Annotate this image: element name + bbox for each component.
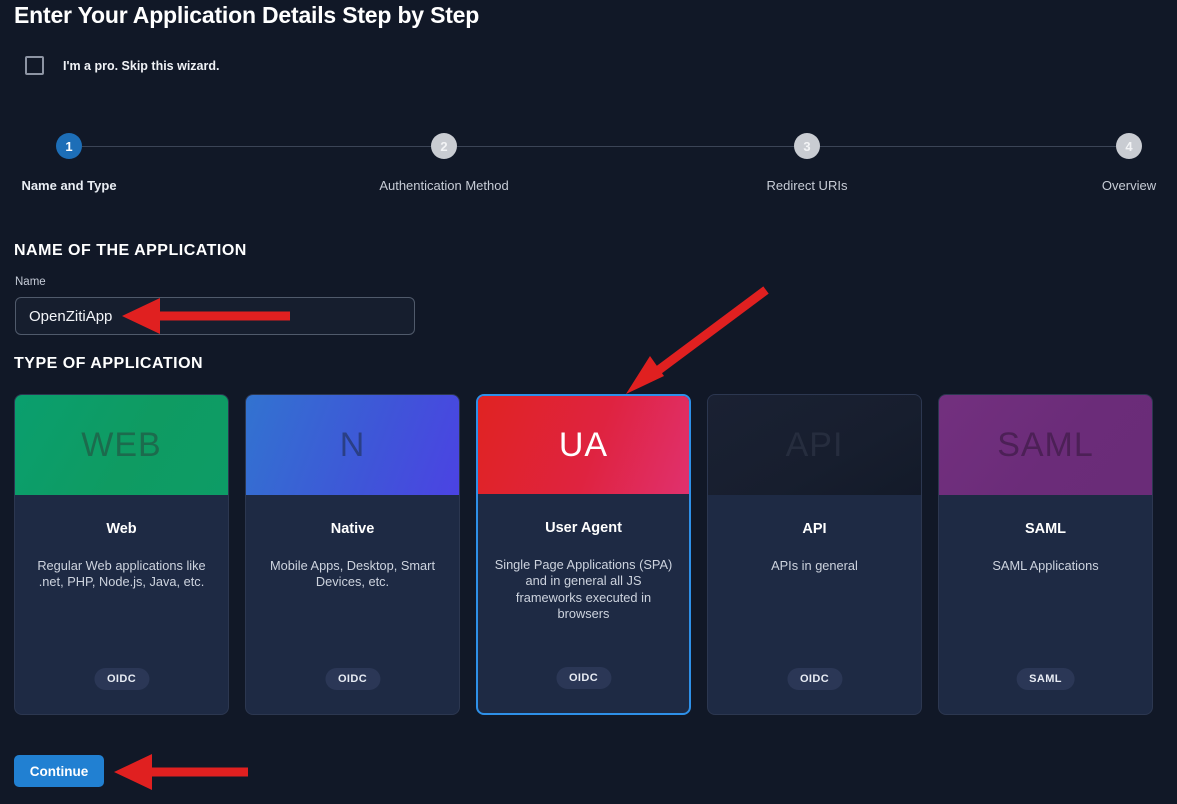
app-type-card-native-header: N [246,395,459,495]
stepper-step-2-number: 2 [431,133,457,159]
annotation-arrow-continue-button [114,754,248,790]
stepper-step-4-label: Overview [1049,178,1177,193]
name-field-label: Name [15,276,46,288]
skip-wizard-label: I'm a pro. Skip this wizard. [63,59,219,73]
app-type-card-web[interactable]: WEB Web Regular Web applications like .n… [14,394,229,715]
stepper-step-2-label: Authentication Method [364,178,524,193]
stepper-connector-2-3 [457,146,794,147]
app-type-card-web-abbr: WEB [81,426,161,465]
stepper-connector-1-2 [82,146,431,147]
app-type-card-saml-title: SAML [1025,521,1066,537]
app-type-card-web-badge: OIDC [94,668,149,690]
skip-wizard-checkbox[interactable] [25,56,44,75]
app-type-card-native-body: Native Mobile Apps, Desktop, Smart Devic… [246,495,459,714]
app-type-card-user-agent-header: UA [478,396,689,494]
app-type-card-web-header: WEB [15,395,228,495]
stepper-step-1-label: Name and Type [0,178,149,193]
wizard-stepper: 1 Name and Type 2 Authentication Method … [0,133,1177,213]
application-type-card-list: WEB Web Regular Web applications like .n… [14,394,1164,715]
app-type-card-web-description: Regular Web applications like .net, PHP,… [31,558,212,591]
app-type-card-saml-badge: SAML [1016,668,1075,690]
page-title: Enter Your Application Details Step by S… [14,2,479,29]
app-type-card-user-agent-abbr: UA [559,426,608,465]
app-type-card-web-body: Web Regular Web applications like .net, … [15,495,228,714]
app-type-card-saml-header: SAML [939,395,1152,495]
app-type-card-saml[interactable]: SAML SAML SAML Applications SAML [938,394,1153,715]
application-name-input[interactable] [15,297,415,335]
stepper-step-1[interactable]: 1 Name and Type [0,133,149,193]
type-section-heading: TYPE OF APPLICATION [14,355,203,373]
continue-button[interactable]: Continue [14,755,104,787]
stepper-step-3-label: Redirect URIs [727,178,887,193]
app-type-card-native-description: Mobile Apps, Desktop, Smart Devices, etc… [262,558,443,591]
app-type-card-user-agent-description: Single Page Applications (SPA) and in ge… [494,557,673,622]
app-type-card-user-agent-body: User Agent Single Page Applications (SPA… [478,494,689,713]
annotation-arrow-user-agent-card [626,290,766,394]
app-type-card-native-title: Native [331,521,375,537]
stepper-step-3-number: 3 [794,133,820,159]
app-type-card-api-header: API [708,395,921,495]
app-type-card-user-agent[interactable]: UA User Agent Single Page Applications (… [476,394,691,715]
app-type-card-api-description: APIs in general [771,558,858,574]
name-section-heading: NAME OF THE APPLICATION [14,242,247,260]
stepper-step-4[interactable]: 4 Overview [1049,133,1177,193]
app-type-card-user-agent-badge: OIDC [556,667,611,689]
stepper-step-2[interactable]: 2 Authentication Method [364,133,524,193]
app-type-card-api-badge: OIDC [787,668,842,690]
app-type-card-native[interactable]: N Native Mobile Apps, Desktop, Smart Dev… [245,394,460,715]
stepper-step-4-number: 4 [1116,133,1142,159]
app-type-card-api-body: API APIs in general OIDC [708,495,921,714]
app-type-card-web-title: Web [106,521,136,537]
stepper-step-1-number: 1 [56,133,82,159]
app-type-card-api-abbr: API [786,426,844,465]
app-type-card-api-title: API [802,521,826,537]
app-type-card-saml-description: SAML Applications [992,558,1098,574]
app-type-card-saml-body: SAML SAML Applications SAML [939,495,1152,714]
app-type-card-api[interactable]: API API APIs in general OIDC [707,394,922,715]
app-type-card-saml-abbr: SAML [997,426,1094,465]
app-type-card-native-abbr: N [340,426,366,465]
app-type-card-user-agent-title: User Agent [545,520,622,536]
app-type-card-native-badge: OIDC [325,668,380,690]
stepper-step-3[interactable]: 3 Redirect URIs [727,133,887,193]
skip-wizard-row[interactable]: I'm a pro. Skip this wizard. [25,56,219,75]
stepper-connector-3-4 [820,146,1116,147]
